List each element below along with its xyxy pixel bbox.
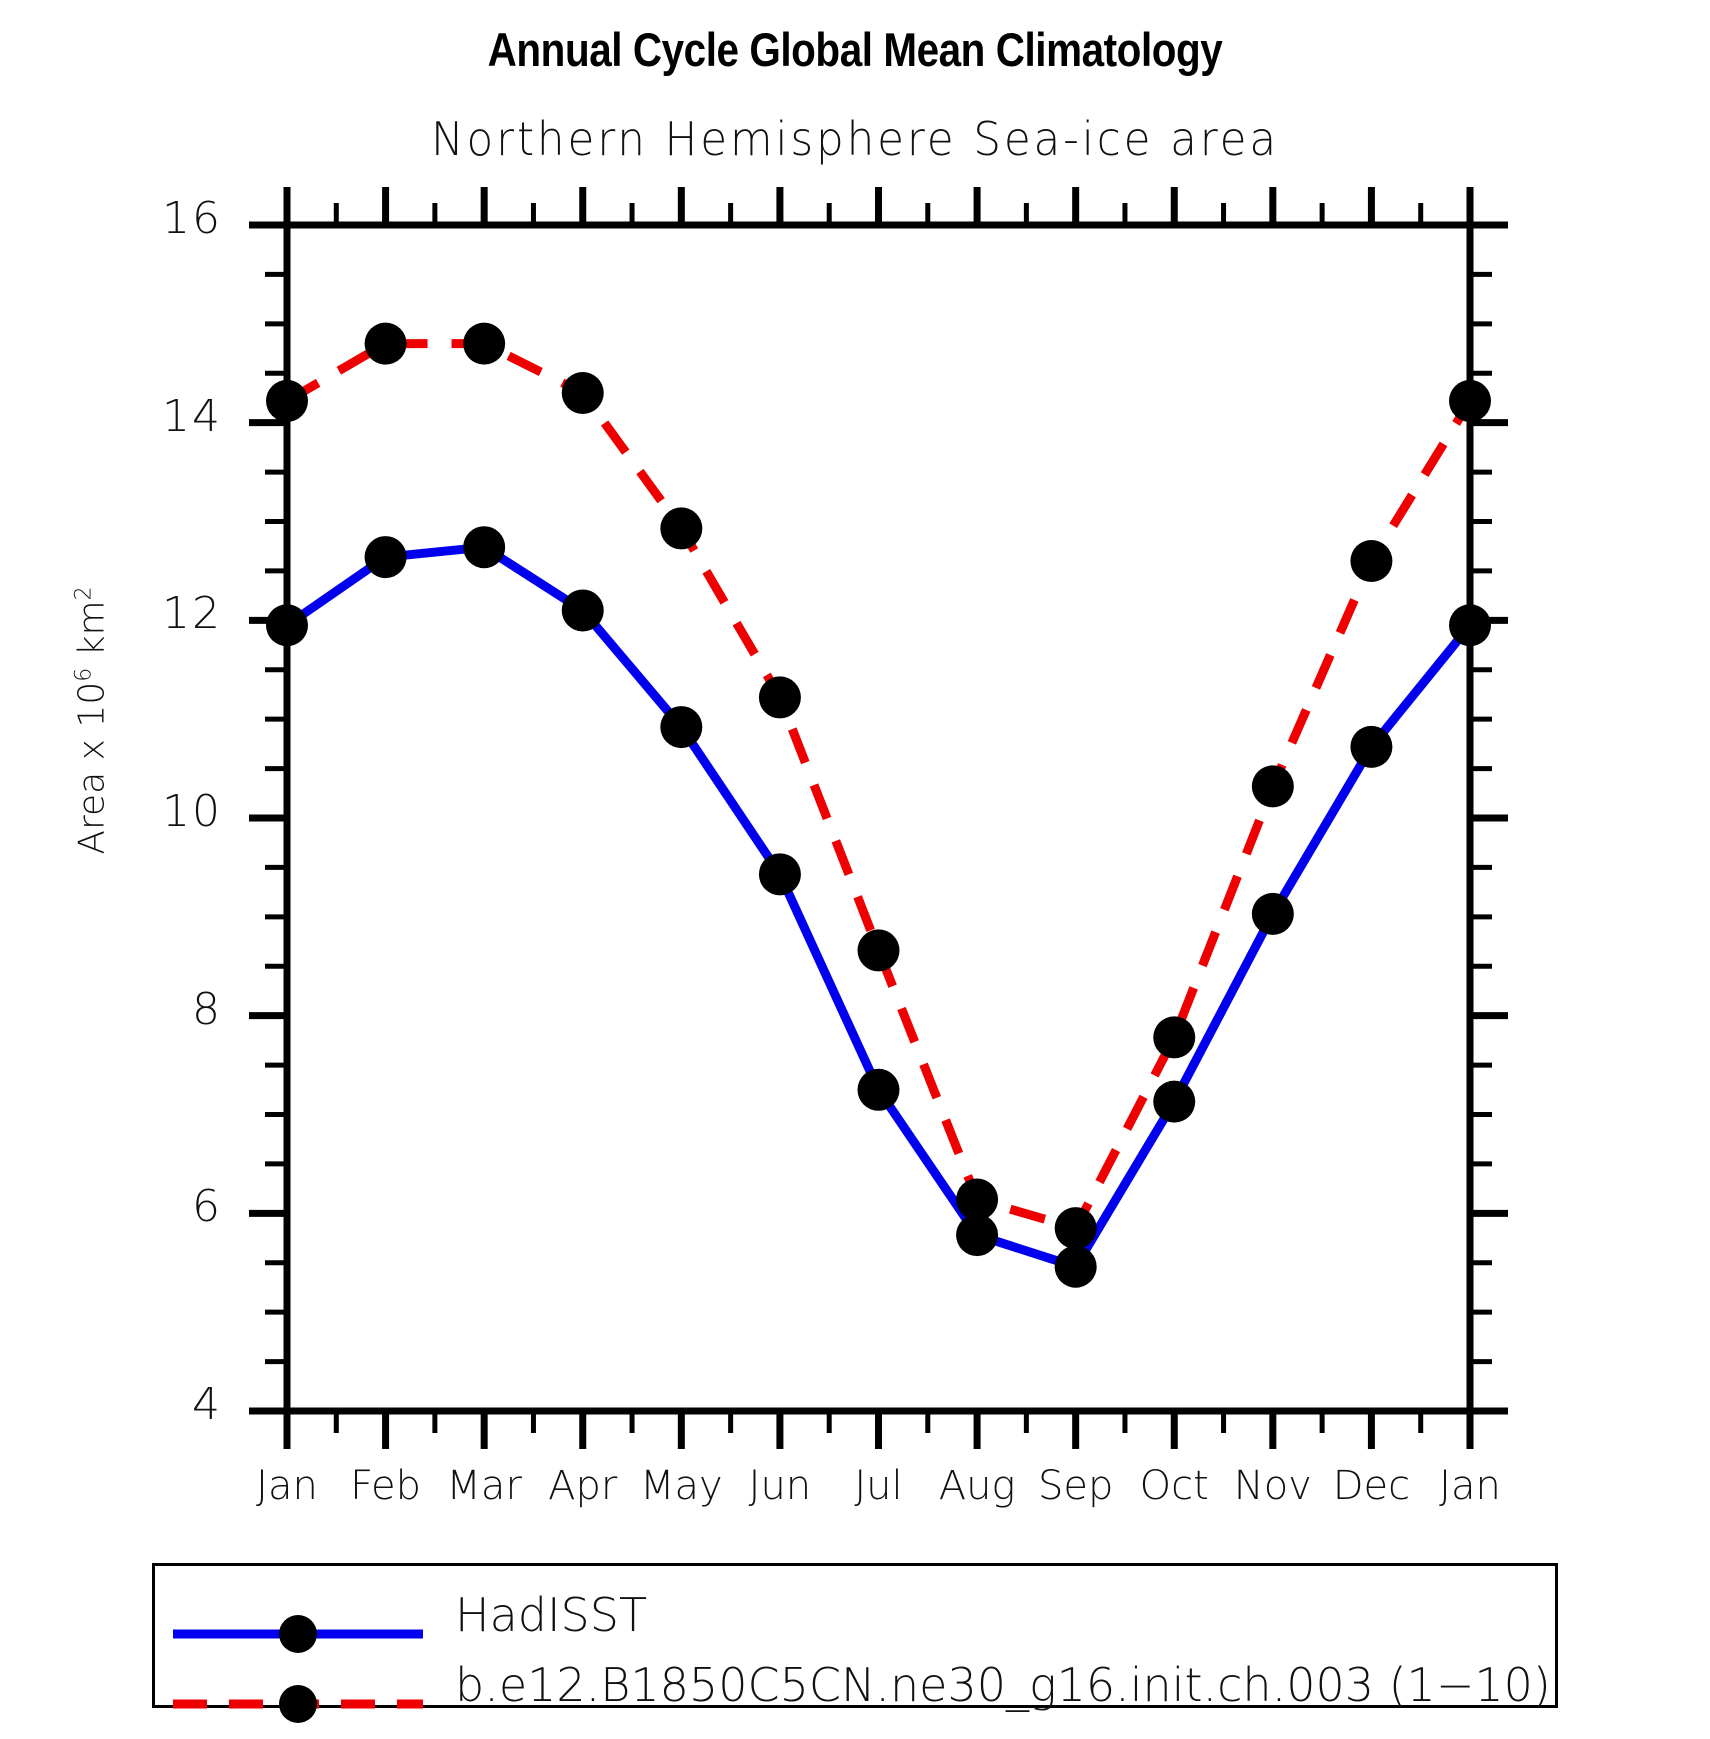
data-point[interactable] xyxy=(1252,893,1294,935)
data-point[interactable] xyxy=(759,676,801,718)
y-tick-label: 16 xyxy=(102,193,222,244)
data-point[interactable] xyxy=(1055,1246,1097,1288)
plot-frame xyxy=(287,225,1470,1411)
x-tick-label: Jan xyxy=(1410,1463,1530,1509)
data-point[interactable] xyxy=(1153,1016,1195,1058)
data-point[interactable] xyxy=(1350,726,1392,768)
data-point[interactable] xyxy=(365,536,407,578)
data-point[interactable] xyxy=(562,372,604,414)
legend-row[interactable]: b.e12.B1850C5CN.ne30_g16.init.ch.003 (1−… xyxy=(155,1674,1555,1734)
data-point[interactable] xyxy=(759,853,801,895)
data-point[interactable] xyxy=(365,323,407,365)
y-tick-label: 6 xyxy=(102,1181,222,1232)
legend-swatch-model xyxy=(155,1674,445,1734)
chart-page: Annual Cycle Global Mean Climatology Nor… xyxy=(0,0,1710,1713)
data-point[interactable] xyxy=(1252,765,1294,807)
data-point[interactable] xyxy=(1055,1207,1097,1249)
data-point[interactable] xyxy=(1350,540,1392,582)
y-axis-label-exponent: 6 xyxy=(72,668,97,682)
legend-label-model: b.e12.B1850C5CN.ne30_g16.init.ch.003 (1−… xyxy=(455,1658,1551,1712)
data-point[interactable] xyxy=(463,526,505,568)
legend: HadISST b.e12.B1850C5CN.ne30_g16.init.ch… xyxy=(152,1563,1558,1708)
data-series xyxy=(266,323,1491,1288)
data-point[interactable] xyxy=(1449,604,1491,646)
y-tick-label: 10 xyxy=(102,786,222,837)
y-tick-label: 4 xyxy=(102,1379,222,1430)
data-point[interactable] xyxy=(858,929,900,971)
data-point[interactable] xyxy=(858,1069,900,1111)
y-tick-label: 12 xyxy=(102,588,222,639)
data-point[interactable] xyxy=(562,589,604,631)
data-point[interactable] xyxy=(266,604,308,646)
data-point[interactable] xyxy=(463,323,505,365)
legend-swatch-hadisst xyxy=(155,1604,445,1664)
plot-canvas xyxy=(0,0,1710,1713)
y-axis-label: Area x 106 km2 xyxy=(72,511,113,931)
data-point[interactable] xyxy=(266,380,308,422)
axis-ticks xyxy=(249,187,1508,1449)
y-tick-label: 8 xyxy=(102,984,222,1035)
data-point[interactable] xyxy=(956,1178,998,1220)
legend-row[interactable]: HadISST xyxy=(155,1604,1555,1664)
data-point[interactable] xyxy=(660,706,702,748)
legend-label-hadisst: HadISST xyxy=(455,1588,647,1642)
data-point[interactable] xyxy=(1153,1081,1195,1123)
data-point[interactable] xyxy=(660,507,702,549)
data-point[interactable] xyxy=(1449,380,1491,422)
y-tick-label: 14 xyxy=(102,391,222,442)
y-axis-label-unit-exponent: 2 xyxy=(72,586,97,600)
